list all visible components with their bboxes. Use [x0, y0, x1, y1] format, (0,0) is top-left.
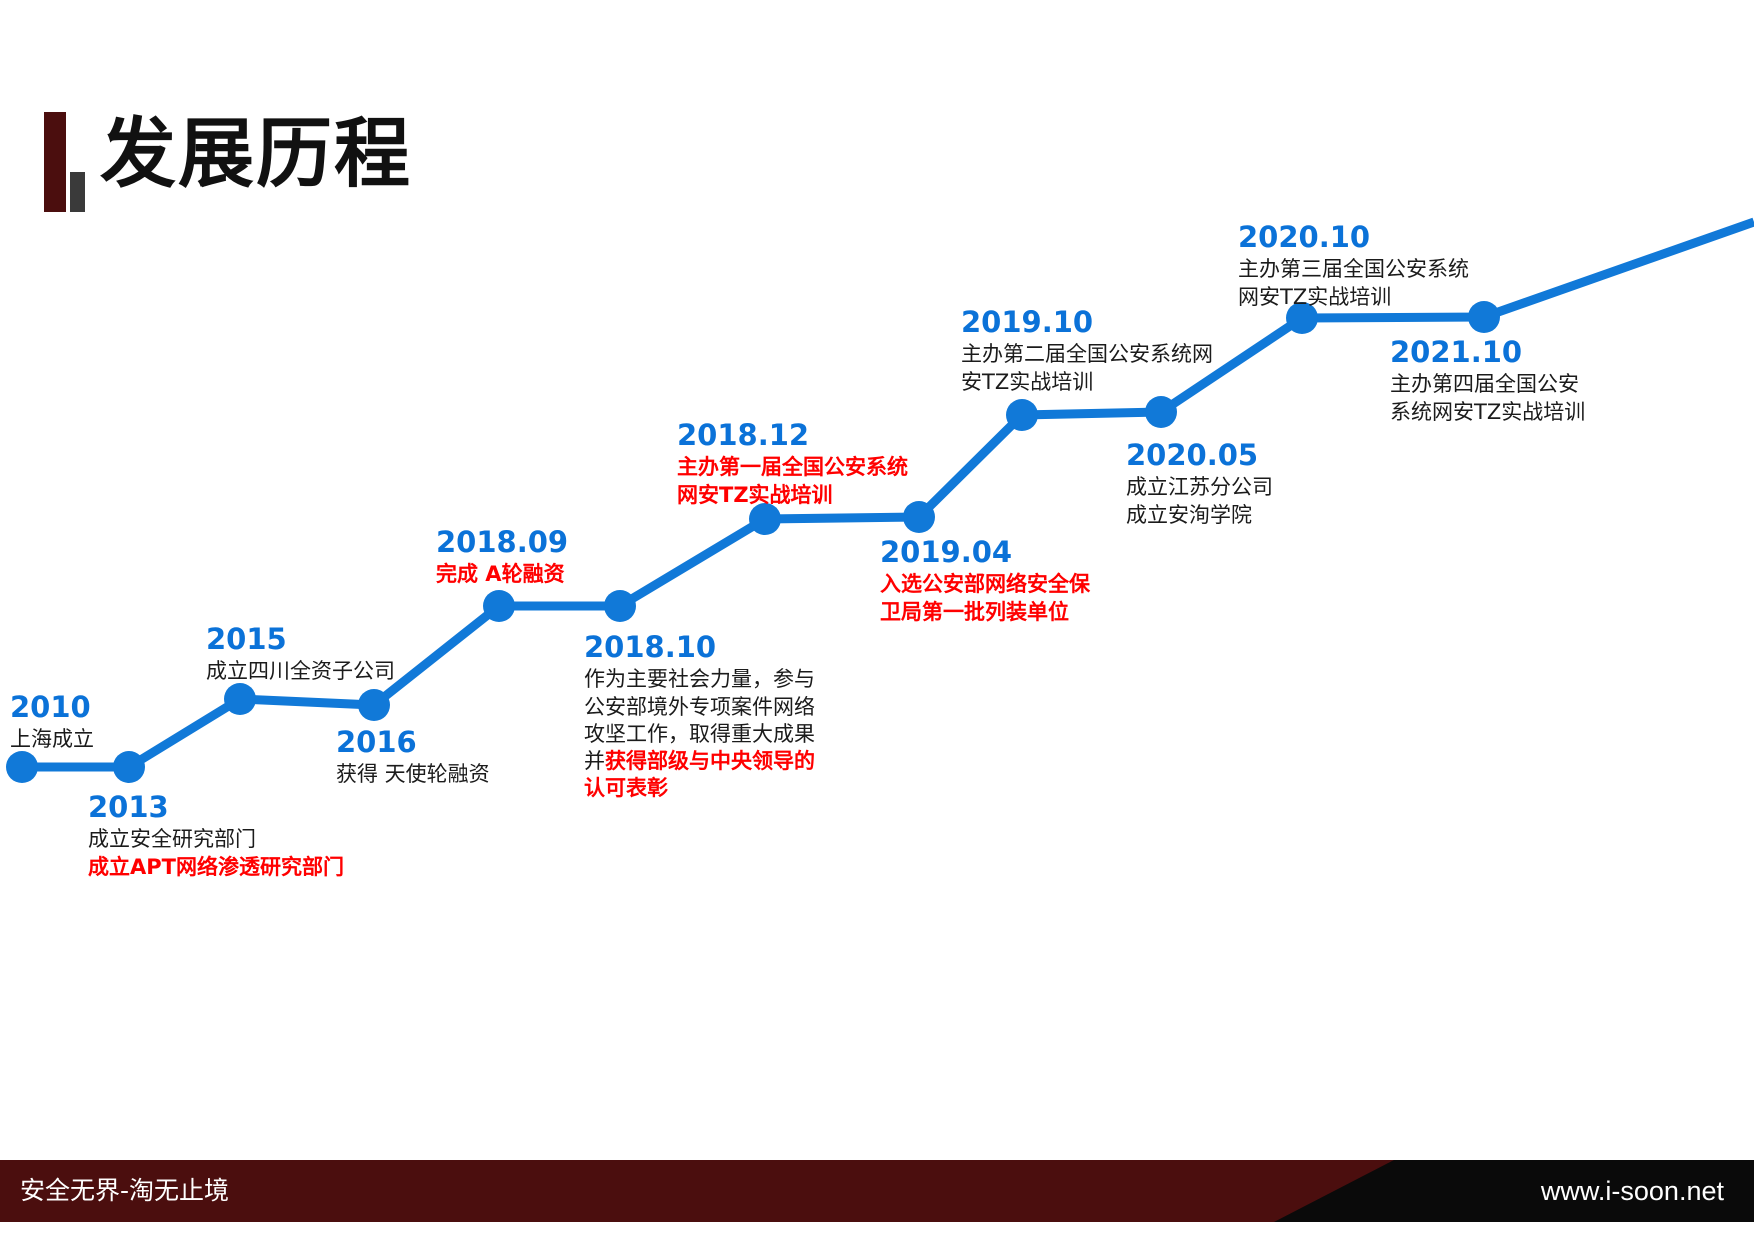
- timeline-desc-line: 并获得部级与中央领导的: [584, 748, 815, 775]
- timeline-desc-line: 公安部境外专项案件网络: [584, 694, 815, 721]
- timeline-label-2015: 2015成立四川全资子公司: [206, 622, 395, 686]
- timeline-desc-line: 卫局第一批列装单位: [880, 599, 1090, 626]
- timeline-desc-line: 完成 A轮融资: [436, 561, 568, 588]
- timeline-desc-line: 网安TZ实战培训: [677, 482, 908, 509]
- timeline-date-2018.09: 2018.09: [436, 525, 568, 559]
- timeline-desc-line: 入选公安部网络安全保: [880, 571, 1090, 598]
- timeline-desc-line: 主办第三届全国公安系统: [1238, 256, 1469, 283]
- timeline-label-2018.10: 2018.10作为主要社会力量，参与公安部境外专项案件网络攻坚工作，取得重大成果…: [584, 630, 815, 803]
- timeline-label-2021.10: 2021.10主办第四届全国公安系统网安TZ实战培训: [1390, 335, 1585, 426]
- timeline-node-2015[interactable]: [224, 683, 256, 715]
- timeline-node-2019.10[interactable]: [1006, 399, 1038, 431]
- timeline-desc-line: 成立安全研究部门: [88, 826, 344, 853]
- timeline-label-2016: 2016获得 天使轮融资: [336, 725, 490, 789]
- timeline-desc-line: 成立江苏分公司: [1126, 474, 1273, 501]
- timeline-date-2016: 2016: [336, 725, 490, 759]
- timeline-node-2010[interactable]: [6, 751, 38, 783]
- timeline-desc-line: 成立APT网络渗透研究部门: [88, 854, 344, 881]
- timeline-date-2019.04: 2019.04: [880, 535, 1090, 569]
- timeline-label-2018.12: 2018.12主办第一届全国公安系统网安TZ实战培训: [677, 418, 908, 509]
- timeline-node-2016[interactable]: [358, 689, 390, 721]
- timeline-label-2019.04: 2019.04入选公安部网络安全保卫局第一批列装单位: [880, 535, 1090, 626]
- timeline-date-2021.10: 2021.10: [1390, 335, 1585, 369]
- desc-red-run: 获得部级与中央领导的: [605, 749, 815, 773]
- timeline-label-2020.10: 2020.10主办第三届全国公安系统网安TZ实战培训: [1238, 220, 1469, 311]
- timeline-node-2021.10[interactable]: [1468, 301, 1500, 333]
- timeline-date-2013: 2013: [88, 790, 344, 824]
- timeline-desc-line: 作为主要社会力量，参与: [584, 666, 815, 693]
- timeline-desc-line: 主办第四届全国公安: [1390, 371, 1585, 398]
- timeline-date-2010: 2010: [10, 690, 94, 724]
- timeline-label-2010: 2010上海成立: [10, 690, 94, 754]
- timeline-node-2018.10[interactable]: [604, 590, 636, 622]
- timeline-node-2018.09[interactable]: [483, 590, 515, 622]
- footer-website-url[interactable]: www.i-soon.net: [1274, 1160, 1754, 1222]
- desc-black-run: 并: [584, 749, 605, 773]
- timeline-graphic: [0, 0, 1754, 1040]
- timeline-date-2018.12: 2018.12: [677, 418, 908, 452]
- timeline-date-2020.10: 2020.10: [1238, 220, 1469, 254]
- timeline-desc-line: 主办第二届全国公安系统网: [961, 341, 1213, 368]
- timeline-desc-line: 安TZ实战培训: [961, 369, 1213, 396]
- timeline-node-2020.05[interactable]: [1145, 396, 1177, 428]
- footer-bar: 安全无界-淘无止境 www.i-soon.net: [0, 1160, 1754, 1240]
- timeline-date-2015: 2015: [206, 622, 395, 656]
- timeline-label-2013: 2013成立安全研究部门成立APT网络渗透研究部门: [88, 790, 344, 881]
- timeline-desc-line: 攻坚工作，取得重大成果: [584, 721, 815, 748]
- timeline-desc-line: 系统网安TZ实战培训: [1390, 399, 1585, 426]
- timeline-label-2018.09: 2018.09完成 A轮融资: [436, 525, 568, 589]
- timeline-date-2018.10: 2018.10: [584, 630, 815, 664]
- timeline-date-2019.10: 2019.10: [961, 305, 1213, 339]
- timeline-label-2020.05: 2020.05成立江苏分公司成立安洵学院: [1126, 438, 1273, 529]
- timeline-label-2019.10: 2019.10主办第二届全国公安系统网安TZ实战培训: [961, 305, 1213, 396]
- timeline-desc-line: 获得 天使轮融资: [336, 761, 490, 788]
- footer-slogan: 安全无界-淘无止境: [20, 1160, 229, 1222]
- timeline-desc-line: 成立安洵学院: [1126, 502, 1273, 529]
- timeline-desc-line: 网安TZ实战培训: [1238, 284, 1469, 311]
- timeline-desc-line: 上海成立: [10, 726, 94, 753]
- timeline-node-2013[interactable]: [113, 751, 145, 783]
- timeline-desc-line: 成立四川全资子公司: [206, 658, 395, 685]
- timeline-desc-line: 主办第一届全国公安系统: [677, 454, 908, 481]
- timeline-date-2020.05: 2020.05: [1126, 438, 1273, 472]
- timeline-desc-line: 认可表彰: [584, 775, 815, 802]
